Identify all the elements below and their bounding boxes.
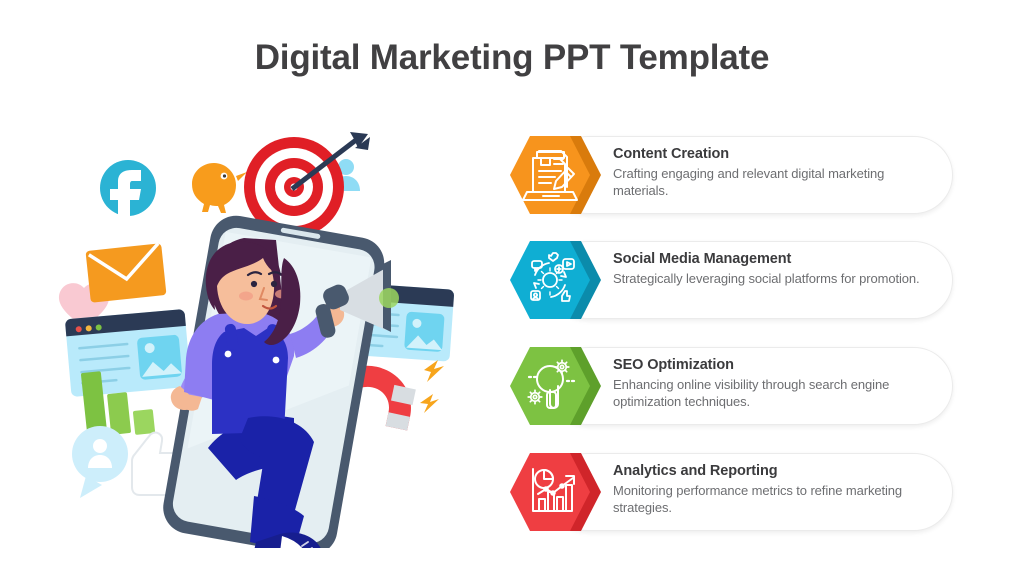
feature-item-seo-optimization[interactable]: SEO Optimization Enhancing online visibi… [505, 345, 955, 427]
feature-title: Content Creation [613, 145, 943, 163]
seo-optimization-hexagon-badge [505, 345, 601, 427]
social-media-management-hexagon-badge [505, 239, 601, 321]
speech-bubble-user-icon [72, 426, 128, 498]
facebook-icon [100, 160, 156, 226]
feature-title: Social Media Management [613, 250, 943, 268]
feature-item-social-media-management[interactable]: Social Media Management Strategically le… [505, 239, 955, 321]
feature-description: Monitoring performance metrics to refine… [613, 483, 943, 516]
page-title: Digital Marketing PPT Template [0, 38, 1024, 78]
feature-description: Strategically leveraging social platform… [613, 271, 943, 288]
envelope-icon [85, 243, 166, 303]
digital-marketing-hero-illustration [58, 118, 488, 548]
feature-item-analytics-and-reporting[interactable]: Analytics and Reporting Monitoring perfo… [505, 451, 955, 533]
user-avatar-icon [229, 158, 243, 172]
lightning-bolt-icon [420, 360, 444, 413]
feature-description: Crafting engaging and relevant digital m… [613, 166, 943, 199]
feature-title: Analytics and Reporting [613, 462, 943, 480]
feature-title: SEO Optimization [613, 356, 943, 374]
analytics-and-reporting-hexagon-badge [505, 451, 601, 533]
feature-description: Enhancing online visibility through sear… [613, 377, 943, 410]
content-creation-hexagon-badge [505, 134, 601, 216]
feature-list: Content Creation Crafting engaging and r… [505, 134, 965, 546]
feature-item-content-creation[interactable]: Content Creation Crafting engaging and r… [505, 134, 955, 216]
